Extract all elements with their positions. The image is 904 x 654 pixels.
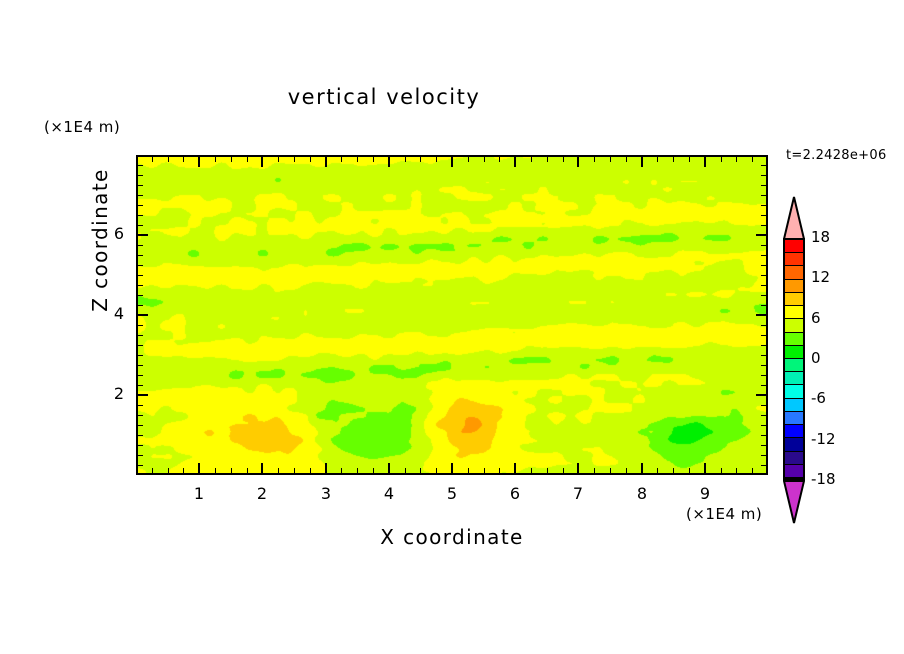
axis-tick: [183, 468, 184, 474]
axis-tick: [137, 275, 143, 276]
axis-tick: [436, 156, 437, 162]
axis-tick: [137, 175, 143, 176]
axis-tick: [137, 455, 143, 456]
axis-tick: [756, 314, 767, 316]
axis-tick: [137, 265, 143, 266]
colorbar-band: [785, 412, 803, 425]
axis-tick: [310, 468, 311, 474]
axis-tick: [247, 468, 248, 474]
axis-tick: [721, 156, 722, 162]
y-tick-label: 6: [90, 224, 124, 243]
axis-tick: [761, 325, 767, 326]
axis-tick: [721, 468, 722, 474]
axis-tick: [420, 156, 421, 162]
axis-tick: [137, 325, 143, 326]
axis-tick: [137, 415, 143, 416]
colorbar-band: [785, 425, 803, 438]
colorbar-bands: [783, 238, 805, 480]
axis-tick: [373, 468, 374, 474]
x-tick-label: 7: [558, 484, 598, 503]
axis-tick: [610, 156, 611, 162]
axis-tick: [689, 156, 690, 162]
axis-tick: [137, 245, 143, 246]
axis-tick: [736, 156, 737, 162]
axis-tick: [215, 156, 216, 162]
axis-tick: [761, 465, 767, 466]
colorbar-tick-label: 18: [811, 228, 830, 246]
axis-tick: [137, 445, 143, 446]
axis-tick: [531, 468, 532, 474]
axis-tick: [137, 295, 143, 296]
axis-tick: [577, 463, 579, 474]
colorbar-tick-label: 12: [811, 268, 830, 286]
vertical-velocity-field: [138, 157, 766, 473]
axis-tick: [761, 405, 767, 406]
axis-tick: [310, 156, 311, 162]
axis-tick: [137, 425, 143, 426]
colorbar-band: [785, 346, 803, 359]
axis-tick: [137, 465, 143, 466]
axis-tick: [761, 285, 767, 286]
colorbar-band: [785, 306, 803, 319]
colorbar-band: [785, 465, 803, 478]
colorbar-band: [785, 266, 803, 279]
axis-tick: [357, 468, 358, 474]
axis-tick: [183, 156, 184, 162]
colorbar-band: [785, 438, 803, 451]
axis-tick: [137, 355, 143, 356]
axis-tick: [761, 425, 767, 426]
axis-tick: [563, 156, 564, 162]
axis-tick: [761, 345, 767, 346]
colorbar-band: [785, 359, 803, 372]
axis-tick: [761, 225, 767, 226]
axis-tick: [405, 468, 406, 474]
axis-tick: [641, 463, 643, 474]
colorbar-band: [785, 333, 803, 346]
axis-tick: [152, 468, 153, 474]
axis-tick: [137, 195, 143, 196]
axis-tick: [761, 265, 767, 266]
axis-tick: [137, 165, 143, 166]
colorbar-tick-label: -18: [811, 470, 836, 488]
axis-tick: [704, 156, 706, 167]
colorbar-tick-label: 6: [811, 309, 821, 327]
axis-tick: [761, 245, 767, 246]
axis-tick: [137, 394, 148, 396]
x-tick-label: 4: [369, 484, 409, 503]
axis-tick: [761, 165, 767, 166]
axis-tick: [761, 195, 767, 196]
colorbar-band: [785, 280, 803, 293]
y-tick-label: 2: [90, 384, 124, 403]
colorbar-band: [785, 240, 803, 253]
axis-tick: [137, 435, 143, 436]
axis-tick: [231, 468, 232, 474]
colorbar-band: [785, 385, 803, 398]
x-tick-label: 5: [432, 484, 472, 503]
time-annotation: t=2.2428e+06: [786, 148, 887, 163]
x-tick-label: 2: [242, 484, 282, 503]
axis-tick: [514, 463, 516, 474]
axis-tick: [137, 225, 143, 226]
axis-tick: [761, 335, 767, 336]
axis-tick: [468, 468, 469, 474]
page-title: vertical velocity: [0, 85, 768, 109]
axis-tick: [405, 156, 406, 162]
axis-tick: [137, 365, 143, 366]
x-tick-label: 1: [179, 484, 219, 503]
axis-tick: [704, 463, 706, 474]
axis-tick: [325, 463, 327, 474]
axis-tick: [752, 468, 753, 474]
axis-tick: [484, 468, 485, 474]
axis-tick: [547, 468, 548, 474]
axis-tick: [388, 463, 390, 474]
colorbar-tick-label: 0: [811, 349, 821, 367]
axis-tick: [641, 156, 643, 167]
axis-tick: [451, 463, 453, 474]
x-axis-unit-label: (×1E4 m): [686, 505, 762, 523]
axis-tick: [341, 468, 342, 474]
axis-tick: [137, 215, 143, 216]
axis-tick: [752, 156, 753, 162]
axis-tick: [325, 156, 327, 167]
axis-tick: [388, 156, 390, 167]
axis-tick: [673, 468, 674, 474]
colorbar-band: [785, 293, 803, 306]
axis-tick: [137, 405, 143, 406]
axis-tick: [231, 156, 232, 162]
axis-tick: [341, 156, 342, 162]
colorbar-band: [785, 319, 803, 332]
x-tick-label: 9: [685, 484, 725, 503]
axis-tick: [761, 215, 767, 216]
axis-tick: [215, 468, 216, 474]
axis-tick: [499, 156, 500, 162]
axis-tick: [761, 455, 767, 456]
axis-tick: [261, 463, 263, 474]
axis-tick: [761, 365, 767, 366]
axis-tick: [168, 468, 169, 474]
axis-tick: [761, 445, 767, 446]
axis-tick: [756, 394, 767, 396]
x-tick-label: 3: [306, 484, 346, 503]
colorbar-over-arrow: [783, 196, 805, 240]
axis-tick: [761, 295, 767, 296]
axis-tick: [761, 375, 767, 376]
contour-plot-area: [136, 155, 768, 475]
colorbar-band: [785, 253, 803, 266]
axis-tick: [761, 255, 767, 256]
axis-tick: [531, 156, 532, 162]
colorbar-band: [785, 372, 803, 385]
axis-tick: [436, 468, 437, 474]
axis-tick: [137, 345, 143, 346]
axis-tick: [137, 305, 143, 306]
axis-tick: [761, 305, 767, 306]
colorbar-tick-label: -6: [811, 389, 826, 407]
axis-tick: [761, 415, 767, 416]
axis-tick: [594, 468, 595, 474]
axis-tick: [610, 468, 611, 474]
y-tick-label: 4: [90, 304, 124, 323]
axis-tick: [626, 156, 627, 162]
axis-tick: [278, 156, 279, 162]
axis-tick: [451, 156, 453, 167]
colorbar-band: [785, 452, 803, 465]
axis-tick: [137, 255, 143, 256]
axis-tick: [761, 435, 767, 436]
axis-tick: [168, 156, 169, 162]
axis-tick: [657, 468, 658, 474]
axis-tick: [673, 156, 674, 162]
axis-tick: [761, 185, 767, 186]
axis-tick: [514, 156, 516, 167]
axis-tick: [761, 175, 767, 176]
axis-tick: [137, 285, 143, 286]
axis-tick: [499, 468, 500, 474]
axis-tick: [198, 463, 200, 474]
axis-tick: [657, 156, 658, 162]
axis-tick: [594, 156, 595, 162]
axis-tick: [278, 468, 279, 474]
axis-tick: [761, 275, 767, 276]
axis-tick: [137, 375, 143, 376]
axis-tick: [294, 468, 295, 474]
axis-tick: [137, 314, 148, 316]
axis-tick: [294, 156, 295, 162]
axis-tick: [468, 156, 469, 162]
axis-tick: [137, 185, 143, 186]
axis-tick: [247, 156, 248, 162]
axis-tick: [689, 468, 690, 474]
x-tick-label: 8: [622, 484, 662, 503]
axis-tick: [736, 468, 737, 474]
axis-tick: [420, 468, 421, 474]
axis-tick: [198, 156, 200, 167]
axis-tick: [137, 234, 148, 236]
axis-tick: [626, 468, 627, 474]
x-tick-label: 6: [495, 484, 535, 503]
axis-tick: [484, 156, 485, 162]
axis-tick: [261, 156, 263, 167]
colorbar-tick-label: -12: [811, 430, 836, 448]
figure-canvas: vertical velocity (×1E4 m) t=2.2428e+06 …: [0, 0, 904, 654]
axis-tick: [137, 205, 143, 206]
axis-tick: [563, 468, 564, 474]
axis-tick: [756, 234, 767, 236]
axis-tick: [152, 156, 153, 162]
axis-tick: [761, 205, 767, 206]
colorbar-under-arrow: [783, 480, 805, 524]
axis-tick: [373, 156, 374, 162]
colorbar-band: [785, 399, 803, 412]
axis-tick: [761, 355, 767, 356]
x-axis-title: X coordinate: [136, 525, 768, 549]
axis-tick: [137, 385, 143, 386]
axis-tick: [357, 156, 358, 162]
axis-tick: [137, 335, 143, 336]
colorbar: 181260-6-12-18: [783, 196, 805, 522]
axis-tick: [577, 156, 579, 167]
axis-tick: [547, 156, 548, 162]
axis-tick: [761, 385, 767, 386]
